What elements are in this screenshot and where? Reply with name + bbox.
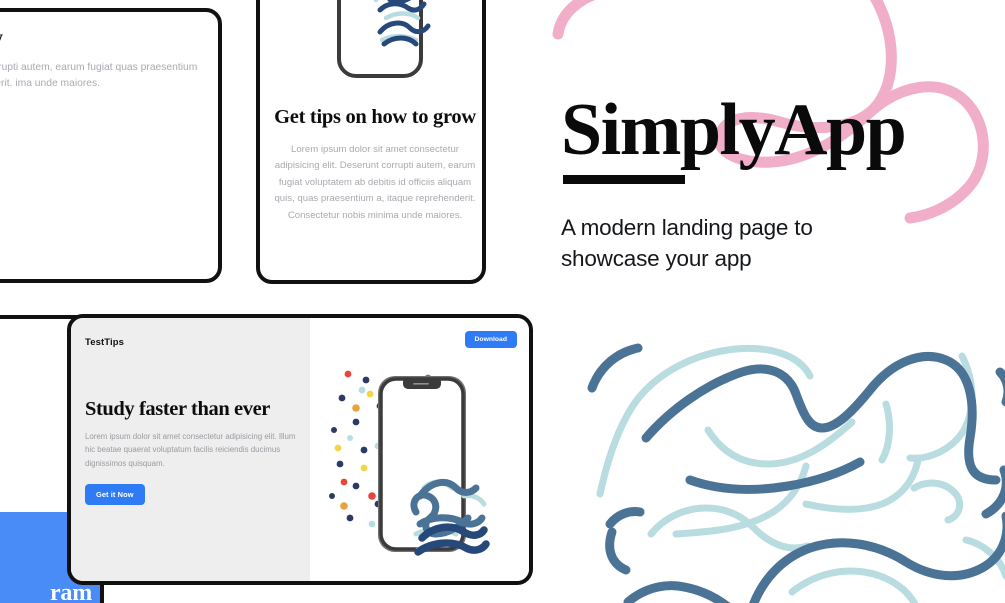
landing-brand-mark: TestTips	[85, 337, 124, 348]
juggling-person-icon	[0, 125, 26, 275]
screenshot-canvas: ow to grow ng elit. Deserunt corrupti au…	[0, 0, 1005, 603]
feature-card-middle-content: Get tips on how to grow Lorem ipsum dolo…	[260, 106, 486, 224]
landing-paragraph: Lorem ipsum dolor sit amet consectetur a…	[85, 430, 298, 471]
brand-title: SimplyApp	[561, 94, 981, 167]
feature-card-left-content: ow to grow ng elit. Deserunt corrupti au…	[0, 12, 218, 93]
get-it-now-button[interactable]: Get it Now	[85, 484, 145, 505]
feature-card-middle: Get tips on how to grow Lorem ipsum dolo…	[256, 0, 486, 284]
landing-left-panel: TestTips Study faster than ever Lorem ip…	[71, 318, 310, 581]
landing-page-card: TestTips Study faster than ever Lorem ip…	[67, 314, 533, 585]
phone-mockup-icon	[260, 0, 486, 90]
feature-card-middle-body: Lorem ipsum dolor sit amet consectetur a…	[274, 142, 476, 225]
download-button[interactable]: Download	[465, 331, 517, 348]
brand-tagline: A modern landing page to showcase your a…	[561, 212, 891, 276]
landing-right-panel: Download	[310, 318, 529, 581]
brand-block: SimplyApp A modern landing page to showc…	[561, 94, 981, 275]
brand-underline-rule	[563, 175, 685, 184]
feature-card-left-title: ow to grow	[0, 26, 198, 50]
landing-heading: Study faster than ever	[85, 398, 300, 421]
landing-hero: Study faster than ever Lorem ipsum dolor…	[85, 398, 300, 505]
wave-lines-decoration	[556, 318, 1005, 603]
feature-card-left-body: ng elit. Deserunt corrupti autem, earum …	[0, 60, 206, 93]
feature-card-middle-title: Get tips on how to grow	[274, 106, 476, 130]
phone-with-confetti-illustration	[320, 346, 533, 585]
feature-card-left: ow to grow ng elit. Deserunt corrupti au…	[0, 8, 222, 283]
